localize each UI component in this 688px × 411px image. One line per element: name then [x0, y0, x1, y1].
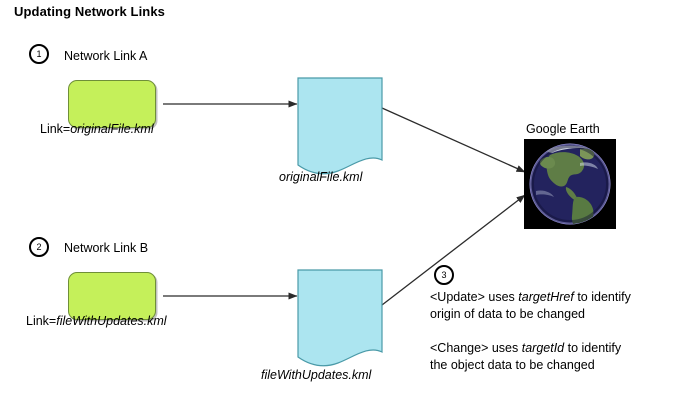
step3-note-line-1: <Update> uses targetHref to identify — [430, 289, 631, 306]
arrow-originalfile-to-googleearth — [382, 108, 525, 172]
step-badge-3-number: 3 — [441, 271, 446, 280]
document-filewithupdates — [298, 270, 382, 366]
step3-l3-pre: <Change> uses — [430, 341, 522, 355]
link-caption-b-prefix: Link= — [26, 314, 56, 328]
diagram-canvas: Updating Network Links 1 Network Link A … — [0, 0, 688, 411]
step3-l1-pre: <Update> uses — [430, 290, 518, 304]
step-badge-3: 3 — [434, 265, 454, 285]
page-title: Updating Network Links — [14, 4, 165, 19]
doc-caption-originalfile: originalFile.kml — [279, 170, 362, 184]
google-earth-label: Google Earth — [526, 122, 600, 136]
network-link-a-box[interactable] — [68, 80, 156, 128]
step3-l3-em: targetId — [522, 341, 564, 355]
step3-l4-pre: the object data to be changed — [430, 358, 595, 372]
step-badge-1: 1 — [29, 44, 49, 64]
step3-note-line-4: the object data to be changed — [430, 357, 621, 374]
step3-l1-em: targetHref — [518, 290, 574, 304]
link-caption-a-file: originalFile.kml — [70, 122, 153, 136]
step-badge-1-number: 1 — [36, 50, 41, 59]
step-badge-2-number: 2 — [36, 243, 41, 252]
node-label-network-link-b: Network Link B — [64, 241, 148, 255]
step3-l2-pre: origin of data to be changed — [430, 307, 585, 321]
step3-l1-post: to identify — [574, 290, 631, 304]
step3-note-line-2: origin of data to be changed — [430, 306, 631, 323]
link-caption-b-file: fileWithUpdates.kml — [56, 314, 166, 328]
network-link-b-box[interactable] — [68, 272, 156, 320]
link-caption-a-prefix: Link= — [40, 122, 70, 136]
step3-l3-post: to identify — [564, 341, 621, 355]
step3-note-change: <Change> uses targetId to identify the o… — [430, 340, 621, 374]
step3-note-line-3: <Change> uses targetId to identify — [430, 340, 621, 357]
link-caption-a: Link=originalFile.kml — [40, 122, 154, 136]
globe-icon — [524, 139, 616, 229]
doc-caption-filewithupdates: fileWithUpdates.kml — [261, 368, 371, 382]
step-badge-2: 2 — [29, 237, 49, 257]
link-caption-b: Link=fileWithUpdates.kml — [26, 314, 167, 328]
node-label-network-link-a: Network Link A — [64, 49, 147, 63]
google-earth-panel[interactable] — [524, 139, 616, 229]
step3-note-update: <Update> uses targetHref to identify ori… — [430, 289, 631, 323]
document-originalfile — [298, 78, 382, 174]
